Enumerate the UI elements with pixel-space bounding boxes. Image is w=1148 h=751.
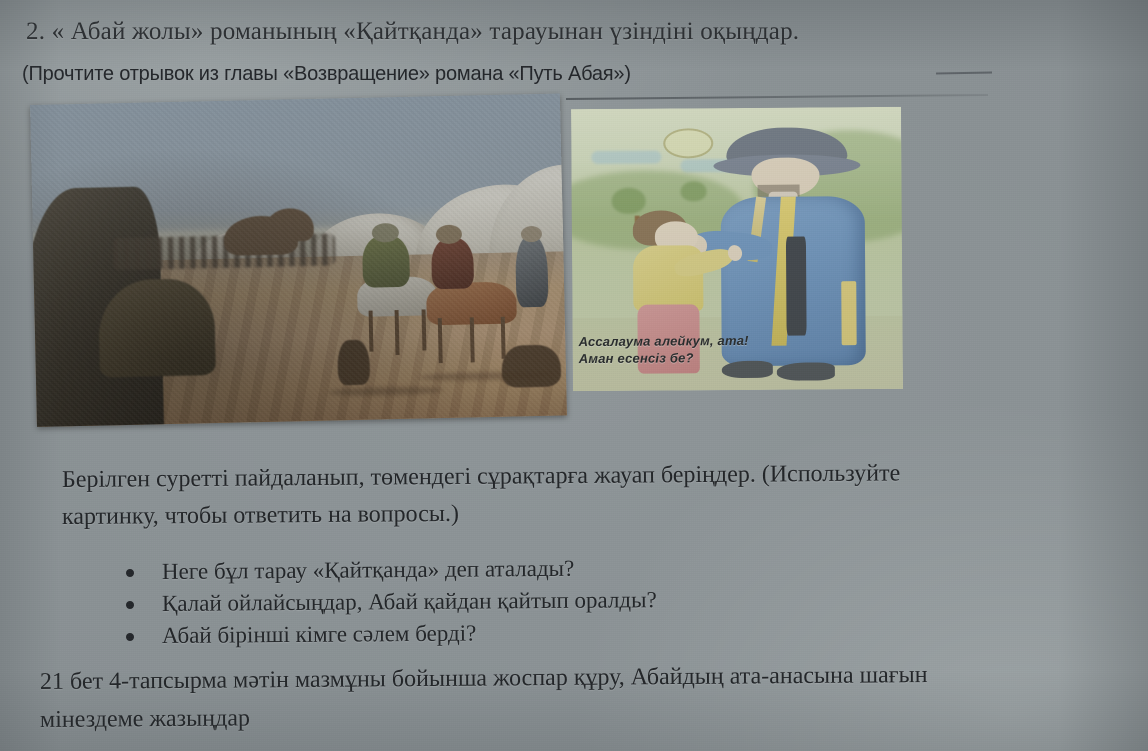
- page-content: 2. « Абай жолы» романының «Қайтқанда» та…: [0, 0, 1148, 751]
- instructions-paragraph: Берілген суретті пайдаланып, төмендегі с…: [62, 462, 1082, 536]
- tree-icon: [680, 182, 706, 202]
- closing-line-2: мінездеме жазыңдар: [40, 692, 1145, 739]
- list-item: Абай бірінші кімге сәлем берді?: [120, 620, 1020, 652]
- instructions-line-ru: картинку, чтобы ответить на вопросы.): [62, 491, 1082, 536]
- cloud-icon: [591, 151, 661, 164]
- task-title-kazakh: 2. « Абай жолы» романының «Қайтқанда» та…: [26, 18, 1026, 46]
- dog-icon: [337, 339, 370, 385]
- questions-list: Неге бұл тарау «Қайтқанда» деп аталады? …: [120, 556, 1020, 652]
- caption-line-2: Аман есенсіз бе?: [579, 349, 749, 367]
- rider-icon: [362, 235, 411, 288]
- illustration-caption: Ассалаума алейкум, ата! Аман есенсіз бе?: [579, 332, 749, 367]
- horizontal-rule: [566, 94, 988, 100]
- camel-icon: [266, 208, 314, 241]
- task-title-russian: (Прочтите отрывок из главы «Возвращение»…: [22, 63, 1022, 86]
- sun-icon: [664, 128, 714, 158]
- question-text: Абай бірінші кімге сәлем берді?: [162, 613, 1020, 652]
- closing-assignment: 21 бет 4-тапсырма мәтін мазмұны бойынша …: [40, 663, 1145, 739]
- rider-icon: [430, 237, 474, 289]
- robe-slit: [841, 281, 857, 346]
- dog-icon: [502, 345, 561, 388]
- shoe-icon: [776, 363, 834, 381]
- rider-head: [372, 223, 399, 243]
- greeting-illustration: Ассалаума алейкум, ата! Аман есенсіз бе?: [571, 107, 903, 391]
- caption-line-1: Ассалаума алейкум, ата!: [579, 332, 749, 350]
- steppe-aul-painting: [30, 93, 567, 426]
- standing-person-icon: [515, 235, 548, 307]
- robe-belt: [786, 236, 807, 335]
